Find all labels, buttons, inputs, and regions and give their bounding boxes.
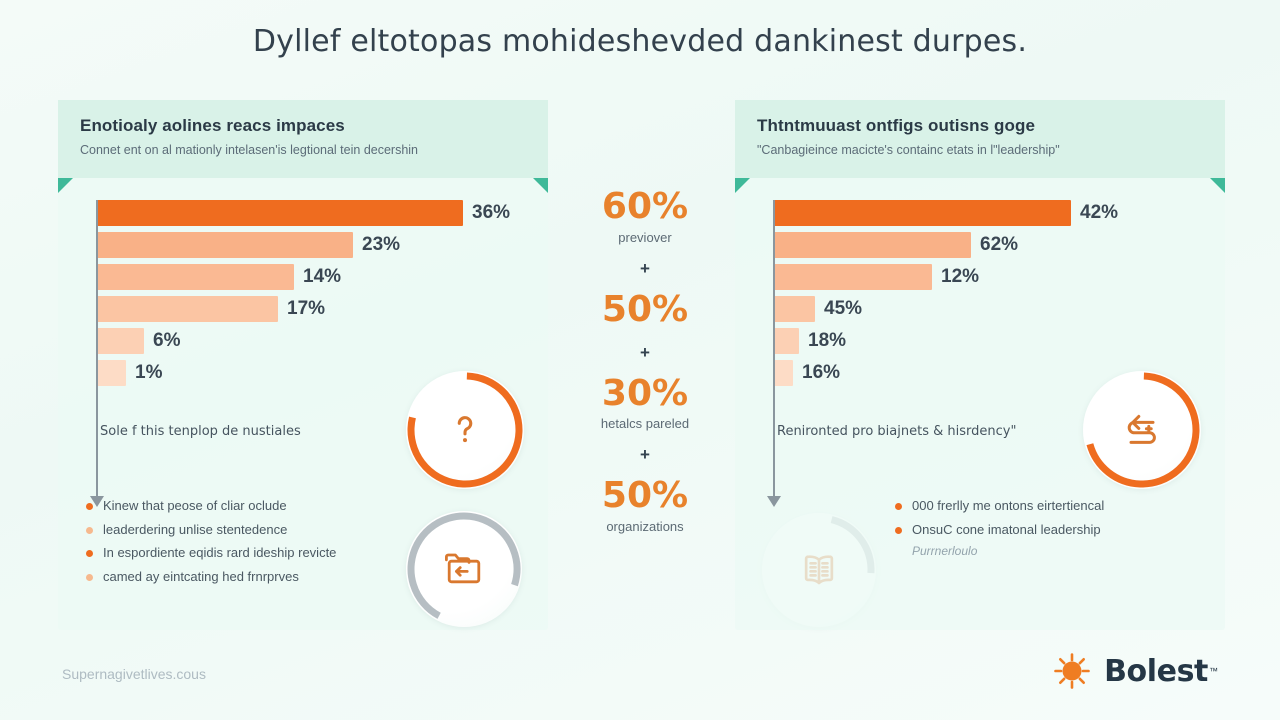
bullet-dot-icon — [86, 550, 93, 557]
plus-separator-icon: + — [565, 445, 725, 465]
progress-ring-icon — [406, 511, 522, 627]
list-item[interactable]: OnsuC cone imatonal leadership — [895, 521, 1225, 539]
list-item[interactable]: 000 frerlly me ontons eirtertiencal — [895, 497, 1225, 515]
corner-notch-icon — [735, 178, 750, 193]
folder-arrow-badge[interactable] — [406, 511, 522, 627]
bar-value-label: 36% — [472, 202, 510, 224]
right-bullet-list: 000 frerlly me ontons eirtertiencal Onsu… — [895, 497, 1225, 558]
list-item-label: In espordiente eqidis rard ideship revic… — [103, 544, 336, 562]
stat-value: 50% — [565, 291, 725, 329]
bar[interactable] — [775, 232, 971, 258]
bullet-dot-icon — [86, 527, 93, 534]
chart-axis-arrow-icon — [767, 496, 781, 507]
logo-wordmark: Bolest — [1104, 654, 1208, 689]
bullet-dot-icon — [895, 527, 902, 534]
right-panel-title: Thtntmuuast ontfigs outisns goge — [757, 116, 1203, 136]
sun-burst-icon — [1051, 650, 1093, 692]
refresh-swap-badge[interactable] — [1083, 371, 1201, 489]
bar-row[interactable]: 18% — [775, 328, 1225, 354]
left-panel-subtitle: Connet ent on al mationly intelasen'is l… — [80, 143, 526, 157]
bar-row[interactable]: 17% — [98, 296, 548, 322]
bar-row[interactable]: 36% — [98, 200, 548, 226]
stat-value: 60% — [565, 188, 725, 226]
chart-axis-line — [96, 200, 98, 500]
center-stats-column: 60% previover + 50% + 30% hetalcs parele… — [565, 188, 725, 534]
progress-ring-icon — [406, 371, 524, 489]
brand-logo[interactable]: Bolest™ — [1051, 650, 1218, 692]
page-title: Dyllef eltotopas mohideshevded dankinest… — [0, 24, 1280, 59]
list-item-label: 000 frerlly me ontons eirtertiencal — [912, 497, 1104, 515]
list-item-label: Kinew that peose of cliar oclude — [103, 497, 287, 515]
bullet-dot-icon — [895, 503, 902, 510]
bar[interactable] — [775, 296, 815, 322]
right-panel: Thtntmuuast ontfigs outisns goge "Canbag… — [735, 100, 1225, 630]
chart-axis-arrow-icon — [90, 496, 104, 507]
chart-axis-line — [773, 200, 775, 500]
bar-value-label: 17% — [287, 298, 325, 320]
bar[interactable] — [775, 200, 1071, 226]
corner-notch-icon — [1210, 178, 1225, 193]
bar[interactable] — [98, 296, 278, 322]
bar-value-label: 62% — [980, 234, 1018, 256]
bar[interactable] — [98, 360, 126, 386]
list-item-label: OnsuC cone imatonal leadership — [912, 521, 1101, 539]
right-panel-header: Thtntmuuast ontfigs outisns goge "Canbag… — [735, 100, 1225, 178]
bar-value-label: 45% — [824, 298, 862, 320]
bar-row[interactable]: 12% — [775, 264, 1225, 290]
bar-row[interactable]: 62% — [775, 232, 1225, 258]
bar[interactable] — [98, 232, 353, 258]
bullet-dot-icon — [86, 574, 93, 581]
bar[interactable] — [775, 264, 932, 290]
left-panel-header: Enotioaly aolines reacs impaces Connet e… — [58, 100, 548, 178]
bar-value-label: 6% — [153, 330, 180, 352]
corner-notch-icon — [533, 178, 548, 193]
bar[interactable] — [98, 264, 294, 290]
question-mark-badge[interactable] — [406, 371, 524, 489]
bar-value-label: 12% — [941, 266, 979, 288]
bar-value-label: 23% — [362, 234, 400, 256]
stat-label: previover — [565, 230, 725, 245]
stat-label: hetalcs pareled — [565, 416, 725, 431]
bar-value-label: 16% — [802, 362, 840, 384]
bar[interactable] — [775, 328, 799, 354]
list-item-label: camed ay eintcating hed frnrprves — [103, 568, 299, 586]
trademark-symbol: ™ — [1209, 666, 1218, 676]
bar-row[interactable]: 23% — [98, 232, 548, 258]
plus-separator-icon: + — [565, 259, 725, 279]
bar-value-label: 1% — [135, 362, 162, 384]
bar[interactable] — [775, 360, 793, 386]
bar-value-label: 14% — [303, 266, 341, 288]
bar[interactable] — [98, 328, 144, 354]
progress-ring-icon — [1083, 371, 1201, 489]
stat-label: organizations — [565, 519, 725, 534]
bar-row[interactable]: 45% — [775, 296, 1225, 322]
corner-notch-icon — [58, 178, 73, 193]
bar-row[interactable]: 42% — [775, 200, 1225, 226]
plus-separator-icon: + — [565, 343, 725, 363]
right-bullet-subnote: Purrnerloulo — [912, 544, 1225, 558]
bar-row[interactable]: 6% — [98, 328, 548, 354]
right-bar-chart: 42% 62% 12% 45% 18% 16% — [735, 200, 1225, 390]
stat-value: 30% — [565, 375, 725, 413]
left-bar-chart: 36% 23% 14% 17% 6% 1% — [58, 200, 548, 390]
bar[interactable] — [98, 200, 463, 226]
bar-value-label: 42% — [1080, 202, 1118, 224]
bar-value-label: 18% — [808, 330, 846, 352]
right-panel-subtitle: "Canbagieince macicte's containc etats i… — [757, 143, 1203, 157]
left-panel-title: Enotioaly aolines reacs impaces — [80, 116, 526, 136]
stat-value: 50% — [565, 477, 725, 515]
list-item-label: leaderdering unlise stentedence — [103, 521, 287, 539]
bar-row[interactable]: 14% — [98, 264, 548, 290]
footer-url[interactable]: Supernagivetlives.cous — [62, 666, 206, 682]
